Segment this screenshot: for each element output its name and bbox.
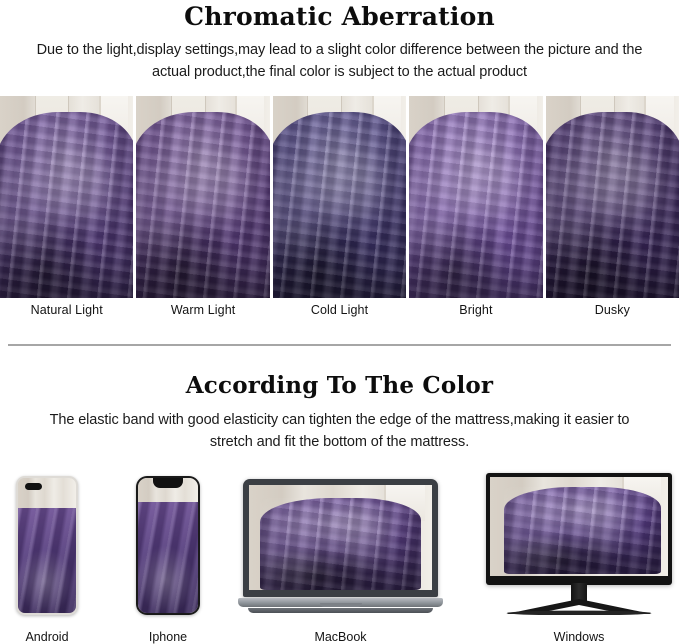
windows-monitor-icon	[486, 473, 672, 615]
according-to-the-color-description: The elastic band with good elasticity ca…	[0, 400, 679, 453]
phone-screen	[138, 478, 198, 613]
lighting-label-row: Natural Light Warm Light Cold Light Brig…	[0, 303, 679, 317]
android-phone-icon	[16, 476, 78, 615]
monitor-frame	[486, 473, 672, 585]
purple-blanket	[136, 112, 269, 298]
purple-blanket	[18, 508, 76, 613]
purple-blanket	[138, 502, 198, 613]
laptop-base	[238, 598, 443, 607]
laptop-trackpad-notch	[320, 603, 362, 607]
notch-icon	[153, 478, 183, 488]
purple-blanket	[504, 487, 661, 574]
screen-scene	[490, 477, 668, 576]
purple-blanket	[273, 112, 406, 298]
laptop-foot	[248, 608, 433, 613]
purple-blanket	[0, 112, 133, 298]
lighting-label-cold-light: Cold Light	[273, 303, 406, 317]
device-label-iphone: Iphone	[136, 630, 200, 644]
lighting-panel-bright	[409, 96, 542, 298]
monitor-stand-shape	[504, 599, 654, 615]
room-scene	[136, 96, 269, 298]
monitor-stand-base	[504, 599, 654, 615]
page-title-chromatic-aberration: Chromatic Aberration	[0, 0, 679, 32]
lighting-panel-cold-light	[273, 96, 406, 298]
phone-body	[136, 476, 200, 615]
macbook-laptop-icon	[238, 479, 443, 615]
monitor-screen	[490, 477, 668, 576]
chromatic-aberration-description: Due to the light,display settings,may le…	[0, 32, 679, 83]
room-scene	[0, 96, 133, 298]
camera-cutout-icon	[25, 483, 42, 490]
phone-screen	[18, 478, 76, 613]
screen-scene	[138, 478, 198, 613]
phone-body	[16, 476, 78, 615]
lighting-panel-warm-light	[136, 96, 269, 298]
lighting-label-dusky: Dusky	[546, 303, 679, 317]
section-chromatic-aberration: Chromatic Aberration Due to the light,di…	[0, 0, 679, 83]
room-scene	[273, 96, 406, 298]
device-label-android: Android	[16, 630, 78, 644]
screen-scene	[18, 478, 76, 613]
laptop-screen	[249, 485, 432, 590]
device-label-macbook: MacBook	[238, 630, 443, 644]
lighting-label-natural-light: Natural Light	[0, 303, 133, 317]
room-scene	[546, 96, 679, 298]
lighting-label-bright: Bright	[409, 303, 542, 317]
room-scene	[409, 96, 542, 298]
section-divider	[8, 344, 671, 346]
lighting-panel-dusky	[546, 96, 679, 298]
iphone-phone-icon	[136, 476, 200, 615]
device-label-windows: Windows	[486, 630, 672, 644]
laptop-lid	[243, 479, 438, 597]
lighting-comparison-strip	[0, 96, 679, 298]
lighting-label-warm-light: Warm Light	[136, 303, 269, 317]
purple-blanket	[546, 112, 679, 298]
device-preview-row	[0, 470, 679, 615]
purple-blanket	[409, 112, 542, 298]
page-title-according-to-the-color: According To The Color	[0, 366, 679, 400]
purple-blanket	[260, 498, 421, 590]
lighting-panel-natural-light	[0, 96, 133, 298]
section-according-to-the-color: According To The Color The elastic band …	[0, 366, 679, 453]
screen-scene	[249, 485, 432, 590]
